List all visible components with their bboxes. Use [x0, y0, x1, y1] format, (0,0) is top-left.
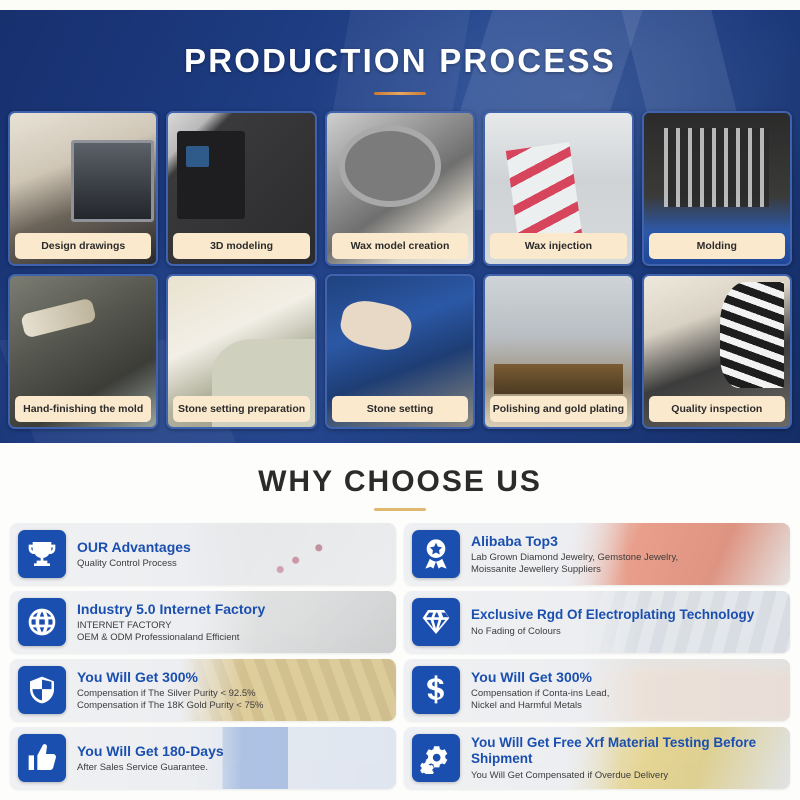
production-process-title: PRODUCTION PROCESS	[0, 10, 800, 80]
feature-subtitle: Compensation if The Silver Purity < 92.5…	[77, 688, 264, 711]
process-step-card[interactable]: Hand-finishing the mold	[8, 274, 158, 429]
feature-subtitle: INTERNET FACTORY OEM & ODM Professionala…	[77, 620, 265, 643]
feature-card-our-advantages[interactable]: OUR Advantages Quality Control Process	[10, 523, 396, 585]
thumbs-up-icon	[18, 734, 66, 782]
why-choose-us-section: WHY CHOOSE US OUR Advantages Quality Con…	[0, 443, 800, 800]
step-caption: 3D modeling	[173, 233, 309, 259]
step-caption: Stone setting preparation	[173, 396, 309, 422]
feature-text: Exclusive Rgd Of Electroplating Technolo…	[471, 607, 754, 638]
process-step-card[interactable]: Quality inspection	[642, 274, 792, 429]
feature-text: You Will Get 300% Compensation if The Si…	[77, 669, 264, 711]
step-caption: Stone setting	[332, 396, 468, 422]
feature-title: You Will Get Free Xrf Material Testing B…	[471, 735, 790, 767]
feature-title: Exclusive Rgd Of Electroplating Technolo…	[471, 607, 754, 623]
feature-title: You Will Get 300%	[471, 669, 609, 685]
process-step-card[interactable]: Stone setting preparation	[166, 274, 316, 429]
step-caption: Hand-finishing the mold	[15, 396, 151, 422]
step-caption: Molding	[649, 233, 785, 259]
step-caption: Design drawings	[15, 233, 151, 259]
top-white-strip	[0, 0, 800, 10]
process-step-card[interactable]: Stone setting	[325, 274, 475, 429]
process-step-card[interactable]: Design drawings	[8, 111, 158, 266]
process-steps-grid: Design drawings 3D modeling Wax model cr…	[0, 95, 800, 429]
feature-card-silver-gold-purity[interactable]: You Will Get 300% Compensation if The Si…	[10, 659, 396, 721]
feature-title: You Will Get 300%	[77, 669, 264, 685]
dollar-icon	[412, 666, 460, 714]
feature-card-harmful-metals[interactable]: You Will Get 300% Compensation if Conta-…	[404, 659, 790, 721]
shield-icon	[18, 666, 66, 714]
feature-text: You Will Get 300% Compensation if Conta-…	[471, 669, 609, 711]
feature-card-180-days-service[interactable]: You Will Get 180-Days After Sales Servic…	[10, 727, 396, 789]
feature-subtitle: No Fading of Colours	[471, 626, 754, 638]
process-step-card[interactable]: Polishing and gold plating	[483, 274, 633, 429]
globe-icon	[18, 598, 66, 646]
feature-subtitle: Lab Grown Diamond Jewelry, Gemstone Jewe…	[471, 552, 678, 575]
process-step-card[interactable]: Wax model creation	[325, 111, 475, 266]
feature-text: OUR Advantages Quality Control Process	[77, 539, 191, 570]
feature-text: You Will Get Free Xrf Material Testing B…	[471, 735, 790, 782]
feature-text: Alibaba Top3 Lab Grown Diamond Jewelry, …	[471, 533, 678, 575]
page-root: PRODUCTION PROCESS Design drawings 3D mo…	[0, 0, 800, 800]
feature-card-industry-5-internet-factory[interactable]: Industry 5.0 Internet Factory INTERNET F…	[10, 591, 396, 653]
feature-title: Industry 5.0 Internet Factory	[77, 601, 265, 617]
step-caption: Polishing and gold plating	[490, 396, 626, 422]
feature-text: You Will Get 180-Days After Sales Servic…	[77, 743, 224, 774]
why-choose-us-title: WHY CHOOSE US	[0, 465, 800, 499]
process-step-card[interactable]: Molding	[642, 111, 792, 266]
gears-icon	[412, 734, 460, 782]
feature-text: Industry 5.0 Internet Factory INTERNET F…	[77, 601, 265, 643]
feature-subtitle: Quality Control Process	[77, 558, 191, 570]
feature-title: Alibaba Top3	[471, 533, 678, 549]
process-step-card[interactable]: 3D modeling	[166, 111, 316, 266]
feature-subtitle: You Will Get Compensated if Overdue Deli…	[471, 770, 790, 782]
trophy-icon	[18, 530, 66, 578]
feature-title: You Will Get 180-Days	[77, 743, 224, 759]
step-caption: Wax model creation	[332, 233, 468, 259]
step-caption: Quality inspection	[649, 396, 785, 422]
feature-subtitle: After Sales Service Guarantee.	[77, 762, 224, 774]
diamond-icon	[412, 598, 460, 646]
award-medal-icon	[412, 530, 460, 578]
production-process-section: PRODUCTION PROCESS Design drawings 3D mo…	[0, 10, 800, 443]
feature-title: OUR Advantages	[77, 539, 191, 555]
feature-card-xrf-material-testing[interactable]: You Will Get Free Xrf Material Testing B…	[404, 727, 790, 789]
feature-card-alibaba-top3[interactable]: Alibaba Top3 Lab Grown Diamond Jewelry, …	[404, 523, 790, 585]
feature-subtitle: Compensation if Conta-ins Lead, Nickel a…	[471, 688, 609, 711]
step-caption: Wax injection	[490, 233, 626, 259]
feature-card-electroplating-technology[interactable]: Exclusive Rgd Of Electroplating Technolo…	[404, 591, 790, 653]
feature-background-image	[10, 523, 396, 585]
process-step-card[interactable]: Wax injection	[483, 111, 633, 266]
feature-grid: OUR Advantages Quality Control Process A…	[0, 511, 800, 789]
